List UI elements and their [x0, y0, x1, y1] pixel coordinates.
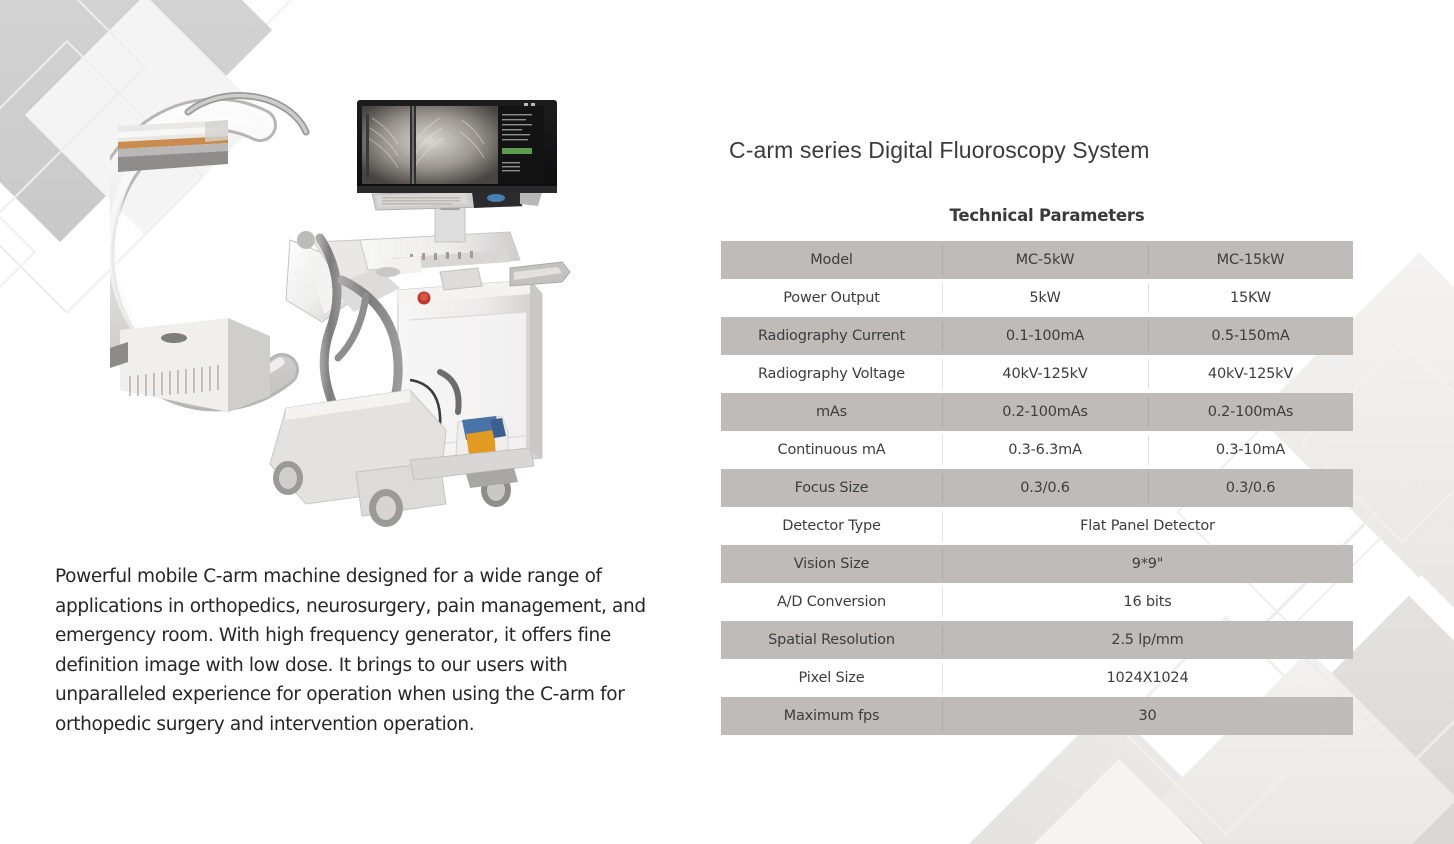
column-divider	[1148, 435, 1149, 465]
section-header-technical-parameters: Technical Parameters	[721, 206, 1373, 225]
column-divider	[1148, 283, 1149, 313]
row-value-col2: MC-15kW	[1148, 253, 1353, 268]
row-value-merged: 16 bits	[942, 595, 1353, 610]
table-row: Spatial Resolution 2.5 lp/mm	[721, 621, 1353, 659]
row-label: Radiography Current	[721, 329, 942, 344]
row-value-col2: 0.3-10mA	[1148, 443, 1353, 458]
x-ray-tube-housing	[110, 318, 270, 412]
row-value-col1: 5kW	[942, 291, 1148, 306]
row-value-merged: Flat Panel Detector	[942, 519, 1353, 534]
column-divider	[942, 321, 943, 351]
table-row: A/D Conversion 16 bits	[721, 583, 1353, 621]
row-label: Continuous mA	[721, 443, 942, 458]
dual-monitor-display	[357, 100, 557, 193]
row-value-col2: 0.2-100mAs	[1148, 405, 1353, 420]
row-label: Pixel Size	[721, 671, 942, 686]
row-value-merged: 9*9"	[942, 557, 1353, 572]
product-photo-carm-machine	[110, 90, 595, 535]
column-divider	[942, 245, 943, 275]
row-value-merged: 2.5 lp/mm	[942, 633, 1353, 648]
row-label: Detector Type	[721, 519, 942, 534]
column-divider	[942, 473, 943, 503]
row-label: Model	[721, 253, 942, 268]
table-row: Pixel Size 1024X1024	[721, 659, 1353, 697]
row-value-col2: 15KW	[1148, 291, 1353, 306]
column-divider	[942, 587, 943, 617]
row-label: mAs	[721, 405, 942, 420]
column-divider	[1148, 245, 1149, 275]
row-value-col1: 0.3-6.3mA	[942, 443, 1148, 458]
row-value-col1: MC-5kW	[942, 253, 1148, 268]
row-value-col2: 0.5-150mA	[1148, 329, 1353, 344]
row-label: A/D Conversion	[721, 595, 942, 610]
row-value-col1: 0.1-100mA	[942, 329, 1148, 344]
table-row: Maximum fps 30	[721, 697, 1353, 735]
row-value-col1: 0.3/0.6	[942, 481, 1148, 496]
column-divider	[1148, 473, 1149, 503]
background-diamond-outline	[0, 108, 36, 396]
row-value-col2: 40kV-125kV	[1148, 367, 1353, 382]
background-diamond-outline	[44, 0, 361, 90]
table-row: Continuous mA 0.3-6.3mA 0.3-10mA	[721, 431, 1353, 469]
column-divider	[942, 663, 943, 693]
technical-parameters-table: Model MC-5kW MC-15kW Power Output 5kW 15…	[721, 241, 1353, 735]
table-row: Detector Type Flat Panel Detector	[721, 507, 1353, 545]
column-divider	[942, 435, 943, 465]
column-divider	[942, 511, 943, 541]
table-row: Radiography Current 0.1-100mA 0.5-150mA	[721, 317, 1353, 355]
row-value-merged: 30	[942, 709, 1353, 724]
column-divider	[1148, 321, 1149, 351]
row-label: Maximum fps	[721, 709, 942, 724]
row-value-col2: 0.3/0.6	[1148, 481, 1353, 496]
row-label: Vision Size	[721, 557, 942, 572]
column-divider	[942, 701, 943, 731]
row-label: Spatial Resolution	[721, 633, 942, 648]
row-label: Radiography Voltage	[721, 367, 942, 382]
table-row: Focus Size 0.3/0.6 0.3/0.6	[721, 469, 1353, 507]
table-row: Radiography Voltage 40kV-125kV 40kV-125k…	[721, 355, 1353, 393]
table-row: Vision Size 9*9"	[721, 545, 1353, 583]
column-divider	[942, 283, 943, 313]
table-row: Power Output 5kW 15KW	[721, 279, 1353, 317]
column-divider	[1148, 359, 1149, 389]
row-value-col1: 40kV-125kV	[942, 367, 1148, 382]
row-value-merged: 1024X1024	[942, 671, 1353, 686]
column-divider	[942, 625, 943, 655]
table-row: Model MC-5kW MC-15kW	[721, 241, 1353, 279]
product-description: Powerful mobile C-arm machine designed f…	[55, 562, 655, 739]
column-divider	[942, 549, 943, 579]
row-value-col1: 0.2-100mAs	[942, 405, 1148, 420]
row-label: Focus Size	[721, 481, 942, 496]
table-row: mAs 0.2-100mAs 0.2-100mAs	[721, 393, 1353, 431]
image-intensifier	[118, 120, 228, 172]
row-label: Power Output	[721, 291, 942, 306]
column-divider	[1148, 397, 1149, 427]
column-divider	[942, 359, 943, 389]
column-divider	[942, 397, 943, 427]
page-title: C-arm series Digital Fluoroscopy System	[729, 137, 1429, 164]
